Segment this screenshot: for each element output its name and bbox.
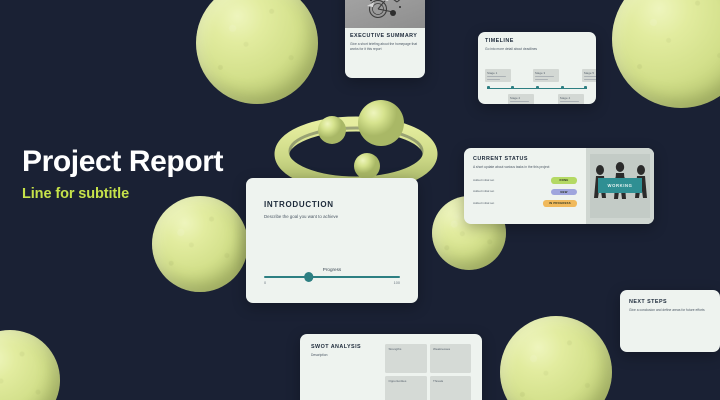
swot-cell-title: Weaknesses <box>433 347 468 351</box>
executive-summary-body: EXECUTIVE SUMMARY Give a short briefing … <box>345 28 425 52</box>
swot-grid: Strengths Weaknesses Opportunities Threa… <box>385 344 471 400</box>
swot-cell-title: Opportunities <box>389 379 424 383</box>
card-swot-analysis[interactable]: SWOT ANALYSIS Description Strengths Weak… <box>300 334 482 400</box>
slide-canvas: Project Report Line for subtitle <box>0 0 720 400</box>
sphere-top-left <box>196 0 318 104</box>
working-sign: WORKING <box>598 178 642 193</box>
swot-cell-threats[interactable]: Threats <box>430 376 472 400</box>
swot-cell-title: Strengths <box>389 347 424 351</box>
status-badge: NEW <box>551 189 577 196</box>
swot-cell-strengths[interactable]: Strengths <box>385 344 427 373</box>
next-steps-heading: NEXT STEPS <box>629 299 711 305</box>
timeline-note[interactable]: Stage 3 <box>533 69 559 82</box>
status-row-label: Added initial set <box>473 189 551 194</box>
swot-cell-title: Threats <box>433 379 468 383</box>
timeline-subtitle: Go into more detail about deadlines <box>485 47 589 52</box>
timeline-note[interactable]: Stage 5 <box>582 69 596 82</box>
current-status-content: CURRENT STATUS A short update about vari… <box>464 148 586 224</box>
status-row-label: Added initial set <box>473 201 543 206</box>
current-status-heading: CURRENT STATUS <box>473 156 577 162</box>
executive-summary-thumbnail <box>345 0 425 28</box>
timeline-note[interactable]: Stage 4 <box>558 94 584 104</box>
status-row-label: Added initial set <box>473 178 551 183</box>
progress-slider-caption: Progress <box>264 267 400 272</box>
sphere-bottom-right <box>500 316 612 400</box>
progress-slider-min: 0 <box>264 281 266 285</box>
progress-slider-max: 100 <box>394 281 400 285</box>
executive-summary-text: Give a short briefing about the homepage… <box>350 42 420 52</box>
page-title: Project Report <box>22 146 223 178</box>
timeline-track: Stage 1 Stage 2 Stage 3 Stage 4 Stage 5 <box>485 70 589 104</box>
card-introduction[interactable]: INTRODUCTION Describe the goal you want … <box>246 178 418 303</box>
card-current-status[interactable]: CURRENT STATUS A short update about vari… <box>464 148 654 224</box>
swot-cell-opportunities[interactable]: Opportunities <box>385 376 427 400</box>
sphere-mid-left <box>152 196 248 292</box>
swot-text-block: SWOT ANALYSIS Description <box>311 344 385 400</box>
progress-slider-rail[interactable] <box>264 276 400 278</box>
timeline-note[interactable]: Stage 1 <box>485 69 511 82</box>
page-subtitle: Line for subtitle <box>22 186 223 202</box>
introduction-subtitle: Describe the goal you want to achieve <box>264 214 400 221</box>
progress-slider-thumb[interactable] <box>304 272 314 282</box>
timeline-heading: TIMELINE <box>485 38 589 44</box>
swot-cell-weaknesses[interactable]: Weaknesses <box>430 344 472 373</box>
status-badge: DONE <box>551 177 577 184</box>
timeline-dot[interactable] <box>536 86 539 89</box>
status-row: Added initial set IN PROGRESS <box>473 200 577 207</box>
current-status-rows: Added initial set DONE Added initial set… <box>473 177 577 207</box>
timeline-dot[interactable] <box>584 86 587 89</box>
card-executive-summary[interactable]: EXECUTIVE SUMMARY Give a short briefing … <box>345 0 425 78</box>
sphere-top-right <box>612 0 720 108</box>
card-next-steps[interactable]: NEXT STEPS Give a conclusion and define … <box>620 290 720 352</box>
introduction-heading: INTRODUCTION <box>264 200 400 209</box>
timeline-note[interactable]: Stage 2 <box>508 94 534 104</box>
swot-heading: SWOT ANALYSIS <box>311 344 385 350</box>
swot-subtitle: Description <box>311 353 385 358</box>
timeline-dot[interactable] <box>561 86 564 89</box>
executive-summary-heading: EXECUTIVE SUMMARY <box>350 33 420 39</box>
status-badge: IN PROGRESS <box>543 200 577 207</box>
status-row: Added initial set NEW <box>473 189 577 196</box>
next-steps-text: Give a conclusion and define areas for f… <box>629 308 711 313</box>
status-row: Added initial set DONE <box>473 177 577 184</box>
card-timeline[interactable]: TIMELINE Go into more detail about deadl… <box>478 32 596 104</box>
headline-block: Project Report Line for subtitle <box>22 146 223 202</box>
progress-slider-scale: 0 100 <box>264 281 400 285</box>
current-status-subtitle: A short update about various tasks in th… <box>473 165 577 170</box>
sphere-bottom-left <box>0 330 60 400</box>
progress-slider[interactable]: Progress 0 100 <box>264 267 400 285</box>
current-status-photo: WORKING <box>586 148 654 224</box>
